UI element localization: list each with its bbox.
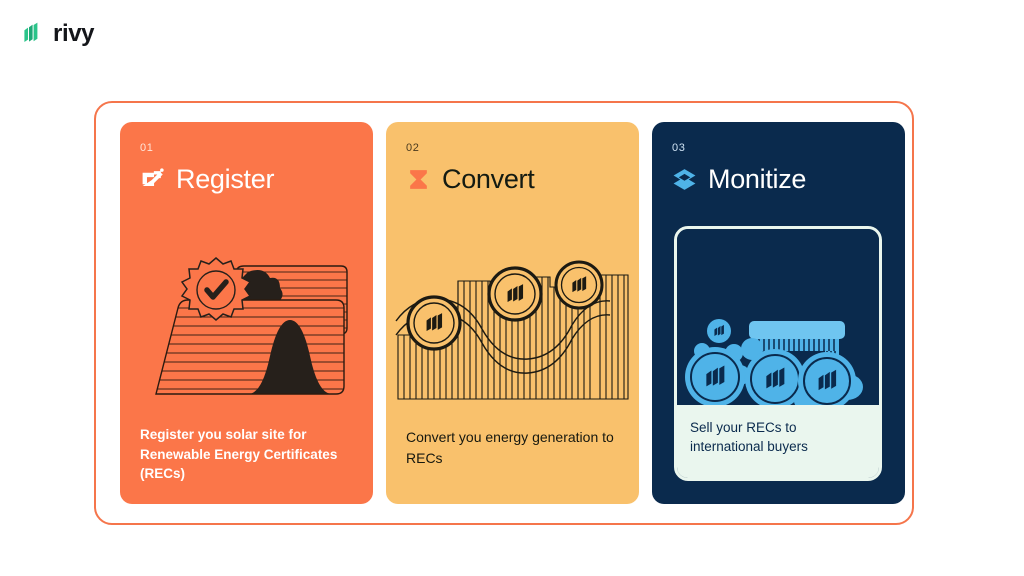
rivy-leaf-mark-icon <box>22 22 46 46</box>
layers-diamond-icon <box>672 167 697 192</box>
card-monitize-inner-panel: Sell your RECs to international buyers <box>674 226 882 481</box>
card-register-step-number: 01 <box>140 143 359 154</box>
card-convert[interactable]: 02 Convert <box>386 122 639 504</box>
card-monitize-header: 03 Monitize <box>672 143 891 193</box>
card-convert-step-number: 02 <box>406 143 625 154</box>
external-link-square-icon <box>140 167 165 192</box>
card-monitize-title: Monitize <box>708 166 806 193</box>
bank-building-with-coins-illustration <box>677 229 879 414</box>
card-monitize-step-number: 03 <box>672 143 891 154</box>
card-convert-title: Convert <box>442 166 534 193</box>
card-register-title-row: Register <box>140 166 359 193</box>
card-convert-title-row: Convert <box>406 166 625 193</box>
brand-logo[interactable]: rivy <box>22 22 94 46</box>
card-register-title: Register <box>176 166 274 193</box>
card-convert-caption: Convert you energy generation to RECs <box>406 427 621 468</box>
solar-panel-with-verified-badge-illustration <box>136 242 358 412</box>
card-register-caption: Register you solar site for Renewable En… <box>140 425 355 484</box>
steps-frame: 01 Register <box>94 101 914 525</box>
line-chart-with-coins-illustration <box>394 247 632 417</box>
card-monitize-caption: Sell your RECs to international buyers <box>677 405 879 478</box>
card-monitize-art-wrap <box>677 229 879 414</box>
card-monitize-title-row: Monitize <box>672 166 891 193</box>
card-convert-header: 02 Convert <box>406 143 625 193</box>
hourglass-icon <box>406 167 431 192</box>
card-register-header: 01 Register <box>140 143 359 193</box>
card-monitize[interactable]: 03 Monitize <box>652 122 905 504</box>
card-register[interactable]: 01 Register <box>120 122 373 504</box>
brand-name: rivy <box>53 22 94 46</box>
